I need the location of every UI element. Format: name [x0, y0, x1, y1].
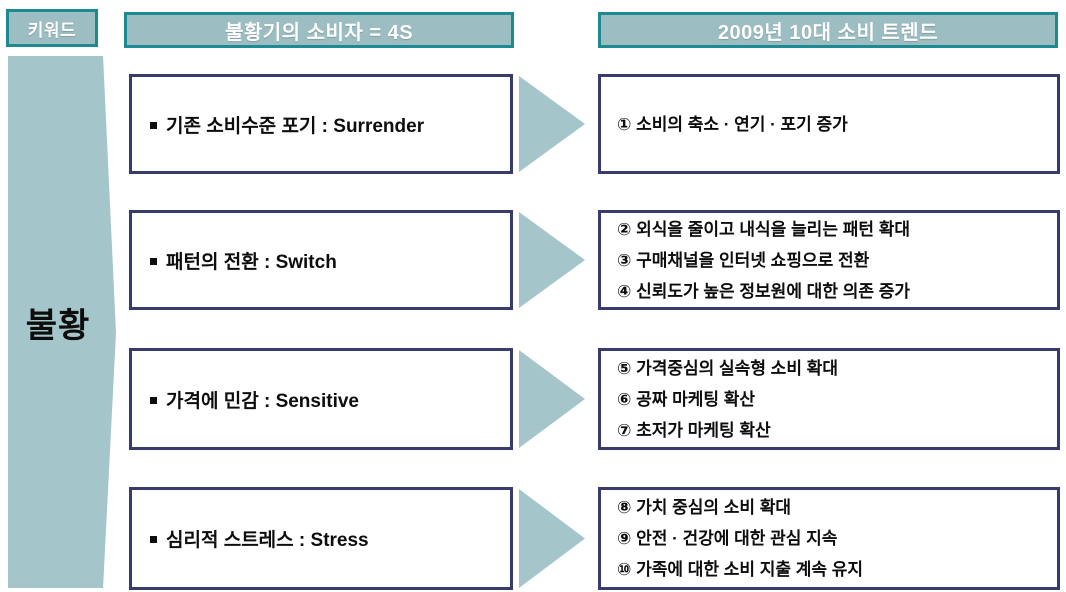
square-bullet-icon [150, 536, 157, 543]
arrow-right-icon-row1 [519, 76, 585, 172]
trend-item: ③ 구매채널을 인터넷 쇼핑으로 전환 [617, 245, 1057, 276]
square-bullet-icon [150, 258, 157, 265]
header-keyword: 키워드 [6, 9, 98, 47]
trend-item: ② 외식을 줄이고 내식을 늘리는 패턴 확대 [617, 214, 1057, 245]
header-consumer-4s-label: 불황기의 소비자 = 4S [225, 16, 413, 45]
square-bullet-icon [150, 397, 157, 404]
s-label-sensitive: 가격에 민감 : Sensitive [132, 386, 359, 413]
trend-box-row4: ⑧ 가치 중심의 소비 확대 ⑨ 안전 · 건강에 대한 관심 지속 ⑩ 가족에… [598, 487, 1060, 590]
s-box-switch: 패턴의 전환 : Switch [129, 210, 513, 310]
header-2009-trends: 2009년 10대 소비 트렌드 [598, 12, 1058, 48]
s-box-surrender: 기존 소비수준 포기 : Surrender [129, 74, 513, 174]
trend-box-row2: ② 외식을 줄이고 내식을 늘리는 패턴 확대 ③ 구매채널을 인터넷 쇼핑으로… [598, 210, 1060, 310]
s-label-stress-text: 심리적 스트레스 : Stress [166, 530, 369, 551]
trend-box-row1: ① 소비의 축소 · 연기 · 포기 증가 [598, 74, 1060, 174]
s-box-sensitive: 가격에 민감 : Sensitive [129, 348, 513, 450]
s-box-stress: 심리적 스트레스 : Stress [129, 487, 513, 590]
trend-box-row3: ⑤ 가격중심의 실속형 소비 확대 ⑥ 공짜 마케팅 확산 ⑦ 초저가 마케팅 … [598, 348, 1060, 450]
recession-label: 불황 [8, 56, 108, 588]
header-2009-trends-label: 2009년 10대 소비 트렌드 [718, 16, 938, 45]
arrow-right-icon-row4 [519, 489, 585, 588]
trend-item: ⑤ 가격중심의 실속형 소비 확대 [617, 353, 1057, 384]
s-label-sensitive-text: 가격에 민감 : Sensitive [166, 391, 359, 412]
s-label-surrender-text: 기존 소비수준 포기 : Surrender [166, 116, 424, 137]
s-label-switch: 패턴의 전환 : Switch [132, 247, 337, 274]
trend-item: ⑧ 가치 중심의 소비 확대 [617, 492, 1057, 523]
arrow-right-icon-row3 [519, 350, 585, 448]
trend-item: ⑨ 안전 · 건강에 대한 관심 지속 [617, 523, 1057, 554]
s-label-switch-text: 패턴의 전환 : Switch [166, 252, 337, 273]
s-label-stress: 심리적 스트레스 : Stress [132, 525, 369, 552]
trend-item: ④ 신뢰도가 높은 정보원에 대한 의존 증가 [617, 276, 1057, 307]
header-consumer-4s: 불황기의 소비자 = 4S [124, 12, 514, 48]
trend-item: ⑩ 가족에 대한 소비 지출 계속 유지 [617, 554, 1057, 585]
arrow-right-icon-row2 [519, 212, 585, 308]
square-bullet-icon [150, 122, 157, 129]
s-label-surrender: 기존 소비수준 포기 : Surrender [132, 111, 424, 138]
trend-item: ⑦ 초저가 마케팅 확산 [617, 415, 1057, 446]
trend-item: ⑥ 공짜 마케팅 확산 [617, 384, 1057, 415]
trend-item: ① 소비의 축소 · 연기 · 포기 증가 [617, 116, 1057, 133]
header-keyword-label: 키워드 [28, 16, 76, 41]
